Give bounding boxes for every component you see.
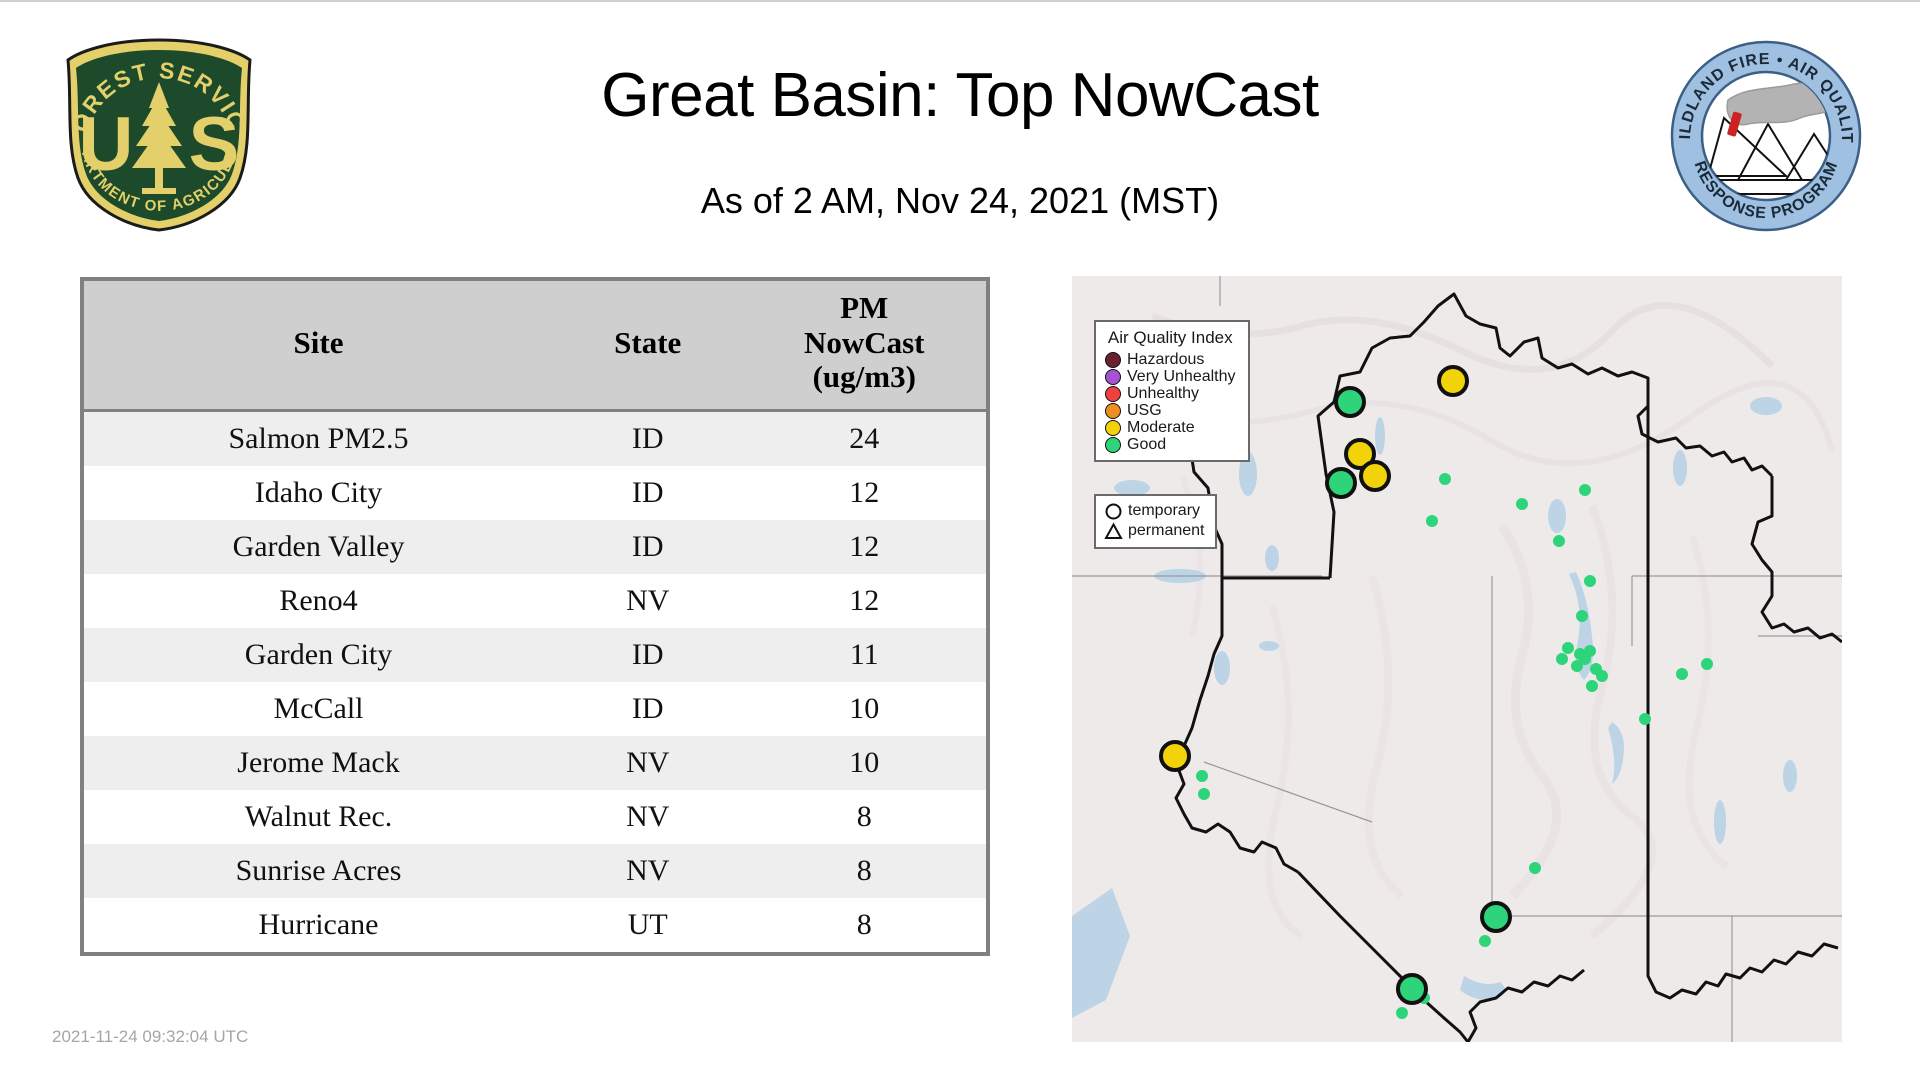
- aqi-legend-label: Very Unhealthy: [1127, 368, 1236, 385]
- great-basin-monitor-map[interactable]: Air Quality Index HazardousVery Unhealth…: [1072, 276, 1842, 1042]
- cell-pm-nowcast: 8: [742, 790, 986, 844]
- monitor-dot: [1553, 535, 1565, 547]
- top-site-marker[interactable]: [1398, 975, 1426, 1003]
- cell-state: NV: [553, 574, 742, 628]
- top-site-marker[interactable]: [1361, 462, 1389, 490]
- temporary-circle-icon: [1104, 502, 1123, 521]
- monitor-dot: [1596, 670, 1608, 682]
- top-site-marker[interactable]: [1439, 367, 1467, 395]
- monitor-dot: [1639, 713, 1651, 725]
- column-header-pm-line1: PM: [742, 291, 986, 326]
- aqi-legend-label: Hazardous: [1127, 351, 1204, 368]
- slide-canvas: FOREST SERVICE DEPARTMENT OF AGRICULTURE…: [0, 2, 1920, 1080]
- monitor-dot: [1479, 935, 1491, 947]
- top-nowcast-table: Site State PM NowCast (ug/m3) Salmon PM2…: [80, 277, 990, 956]
- table-row: Jerome MackNV10: [84, 736, 986, 790]
- aqi-legend-label: Moderate: [1127, 419, 1195, 436]
- aqi-legend-items: HazardousVery UnhealthyUnhealthyUSGModer…: [1105, 351, 1236, 453]
- cell-state: NV: [553, 844, 742, 898]
- monitor-dot: [1198, 788, 1210, 800]
- page-subtitle: As of 2 AM, Nov 24, 2021 (MST): [0, 180, 1920, 222]
- page-title: Great Basin: Top NowCast: [0, 60, 1920, 131]
- aqi-swatch-icon: [1105, 437, 1121, 453]
- aqi-legend-title: Air Quality Index: [1105, 328, 1236, 348]
- table-row: Idaho CityID12: [84, 466, 986, 520]
- aqi-swatch-icon: [1105, 420, 1121, 436]
- cell-site: Garden Valley: [84, 520, 553, 574]
- monitor-dot: [1571, 660, 1583, 672]
- table-header-row: Site State PM NowCast (ug/m3): [84, 281, 986, 411]
- cell-pm-nowcast: 10: [742, 736, 986, 790]
- nowcast-table: Site State PM NowCast (ug/m3) Salmon PM2…: [84, 281, 986, 952]
- aqi-legend-row: Unhealthy: [1105, 385, 1236, 402]
- column-header-pm-line2: NowCast: [742, 326, 986, 361]
- cell-state: ID: [553, 682, 742, 736]
- cell-site: McCall: [84, 682, 553, 736]
- cell-state: ID: [553, 520, 742, 574]
- cell-pm-nowcast: 12: [742, 574, 986, 628]
- top-site-marker[interactable]: [1327, 469, 1355, 497]
- table-row: Walnut Rec.NV8: [84, 790, 986, 844]
- top-site-marker[interactable]: [1161, 742, 1189, 770]
- permanent-triangle-icon: [1104, 522, 1123, 541]
- cell-site: Reno4: [84, 574, 553, 628]
- table-row: Garden ValleyID12: [84, 520, 986, 574]
- cell-site: Garden City: [84, 628, 553, 682]
- monitor-dot: [1586, 680, 1598, 692]
- cell-site: Hurricane: [84, 898, 553, 952]
- monitor-dot: [1562, 642, 1574, 654]
- monitor-dot: [1676, 668, 1688, 680]
- monitor-dot: [1439, 473, 1451, 485]
- top-site-marker[interactable]: [1336, 388, 1364, 416]
- cell-pm-nowcast: 8: [742, 898, 986, 952]
- monitor-dot: [1516, 498, 1528, 510]
- cell-state: NV: [553, 736, 742, 790]
- aqi-legend-row: Good: [1105, 436, 1236, 453]
- cell-pm-nowcast: 12: [742, 466, 986, 520]
- table-row: Salmon PM2.5ID24: [84, 411, 986, 467]
- cell-state: ID: [553, 628, 742, 682]
- monitor-dot: [1584, 575, 1596, 587]
- aqi-swatch-icon: [1105, 352, 1121, 368]
- cell-state: NV: [553, 790, 742, 844]
- monitor-type-legend: temporary permanent: [1094, 494, 1217, 549]
- table-row: HurricaneUT8: [84, 898, 986, 952]
- aqi-legend-row: Hazardous: [1105, 351, 1236, 368]
- air-quality-index-legend: Air Quality Index HazardousVery Unhealth…: [1094, 320, 1250, 462]
- cell-pm-nowcast: 8: [742, 844, 986, 898]
- table-row: Sunrise AcresNV8: [84, 844, 986, 898]
- legend-row-permanent: permanent: [1104, 521, 1205, 541]
- table-row: Reno4NV12: [84, 574, 986, 628]
- cell-pm-nowcast: 10: [742, 682, 986, 736]
- aqi-legend-row: USG: [1105, 402, 1236, 419]
- cell-site: Idaho City: [84, 466, 553, 520]
- aqi-legend-label: USG: [1127, 402, 1162, 419]
- column-header-pm-nowcast: PM NowCast (ug/m3): [742, 281, 986, 411]
- cell-pm-nowcast: 11: [742, 628, 986, 682]
- top-site-marker[interactable]: [1482, 903, 1510, 931]
- monitor-dot: [1556, 653, 1568, 665]
- monitor-dot: [1529, 862, 1541, 874]
- cell-site: Jerome Mack: [84, 736, 553, 790]
- aqi-swatch-icon: [1105, 369, 1121, 385]
- table-body: Salmon PM2.5ID24Idaho CityID12Garden Val…: [84, 411, 986, 953]
- legend-label-permanent: permanent: [1128, 521, 1205, 541]
- cell-pm-nowcast: 24: [742, 411, 986, 467]
- monitor-dot: [1576, 610, 1588, 622]
- column-header-pm-line3: (ug/m3): [742, 360, 986, 395]
- table-row: McCallID10: [84, 682, 986, 736]
- monitor-dot: [1196, 770, 1208, 782]
- cell-site: Sunrise Acres: [84, 844, 553, 898]
- cell-pm-nowcast: 12: [742, 520, 986, 574]
- column-header-state: State: [553, 281, 742, 411]
- aqi-legend-row: Moderate: [1105, 419, 1236, 436]
- generation-timestamp: 2021-11-24 09:32:04 UTC: [52, 1027, 248, 1047]
- table-row: Garden CityID11: [84, 628, 986, 682]
- aqi-legend-label: Unhealthy: [1127, 385, 1199, 402]
- aqi-swatch-icon: [1105, 403, 1121, 419]
- aqi-legend-row: Very Unhealthy: [1105, 368, 1236, 385]
- monitor-dot: [1396, 1007, 1408, 1019]
- monitor-dot: [1584, 645, 1596, 657]
- monitor-dot: [1426, 515, 1438, 527]
- legend-label-temporary: temporary: [1128, 501, 1200, 521]
- cell-site: Walnut Rec.: [84, 790, 553, 844]
- column-header-site: Site: [84, 281, 553, 411]
- table-header: Site State PM NowCast (ug/m3): [84, 281, 986, 411]
- cell-state: ID: [553, 466, 742, 520]
- cell-state: UT: [553, 898, 742, 952]
- aqi-legend-label: Good: [1127, 436, 1166, 453]
- monitor-dot: [1579, 484, 1591, 496]
- cell-site: Salmon PM2.5: [84, 411, 553, 467]
- legend-row-temporary: temporary: [1104, 501, 1205, 521]
- cell-state: ID: [553, 411, 742, 467]
- monitor-dot: [1701, 658, 1713, 670]
- aqi-swatch-icon: [1105, 386, 1121, 402]
